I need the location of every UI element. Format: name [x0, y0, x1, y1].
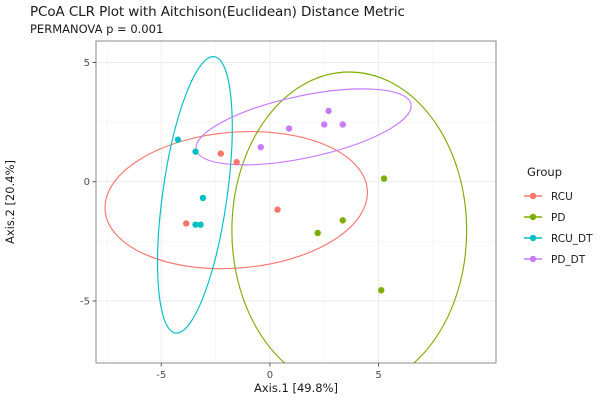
data-point — [321, 121, 327, 127]
y-tick-label: -5 — [80, 296, 90, 307]
legend-item-rcu_dt[interactable]: RCU_DT — [524, 233, 593, 245]
data-point — [197, 221, 203, 227]
y-tick-label: 5 — [84, 58, 90, 69]
pcoa-plot-figure: PCoA CLR Plot with Aitchison(Euclidean) … — [0, 0, 600, 400]
data-point — [340, 217, 346, 223]
legend: Group RCUPDRCU_DTPD_DT — [524, 165, 593, 266]
legend-item-label: RCU — [551, 191, 573, 203]
x-axis-title: Axis.1 [49.8%] — [254, 381, 338, 395]
legend-item-pd[interactable]: PD — [524, 212, 565, 224]
data-point — [200, 195, 206, 201]
legend-title: Group — [527, 165, 562, 179]
legend-key-point — [530, 235, 536, 241]
legend-key-point — [530, 256, 536, 262]
data-point — [325, 108, 331, 114]
legend-item-pd_dt[interactable]: PD_DT — [524, 254, 586, 266]
x-tick-label: 0 — [267, 370, 273, 381]
plot-canvas: -505 50-5 Axis.1 [49.8%] Axis.2 [20.4%] … — [0, 0, 600, 400]
data-point — [274, 206, 280, 212]
x-tick-label: -5 — [156, 370, 166, 381]
data-point — [315, 230, 321, 236]
data-point — [378, 287, 384, 293]
data-point — [286, 125, 292, 131]
data-point — [381, 175, 387, 181]
legend-item-label: PD_DT — [551, 254, 586, 266]
legend-key-point — [530, 193, 536, 199]
data-point — [233, 159, 239, 165]
data-point — [192, 148, 198, 154]
y-axis: 50-5 — [80, 58, 96, 308]
data-point — [218, 150, 224, 156]
x-tick-label: 5 — [375, 370, 381, 381]
legend-item-label: RCU_DT — [551, 233, 593, 245]
legend-key-point — [530, 214, 536, 220]
data-point — [175, 137, 181, 143]
y-axis-title: Axis.2 [20.4%] — [3, 160, 17, 244]
data-point — [258, 144, 264, 150]
y-tick-label: 0 — [84, 177, 90, 188]
legend-item-rcu[interactable]: RCU — [524, 191, 573, 203]
data-point — [183, 220, 189, 226]
x-axis: -505 — [156, 363, 382, 381]
legend-item-label: PD — [551, 212, 565, 224]
data-point — [340, 121, 346, 127]
